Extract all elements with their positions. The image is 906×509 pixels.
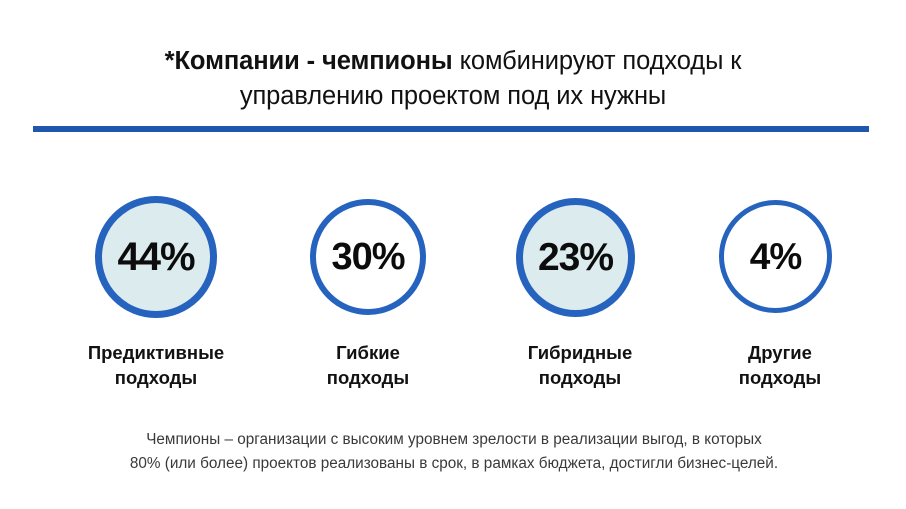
category-label-agile-line1: Гибкие (278, 340, 458, 365)
category-label-agile: Гибкие подходы (278, 340, 458, 390)
title-line-2: управлению проектом под их нужны (60, 79, 846, 114)
footnote-line-2: 80% (или более) проектов реализованы в с… (63, 452, 845, 476)
category-label-agile-line2: подходы (278, 365, 458, 390)
category-label-hybrid: Гибридные подходы (480, 340, 680, 390)
category-label-other-line1: Другие (690, 340, 870, 365)
stat-circle-hybrid: 23% (516, 196, 635, 317)
circle-shape-agile: 30% (310, 199, 426, 315)
category-label-other: Другие подходы (690, 340, 870, 390)
stat-circle-predictive: 44% (95, 196, 217, 318)
title-divider (33, 126, 869, 132)
circle-shape-hybrid: 23% (516, 198, 635, 317)
stat-circle-other: 4% (719, 196, 832, 313)
title-emphasis: *Компании - чемпионы (165, 47, 453, 75)
category-label-predictive: Предиктивные подходы (56, 340, 256, 390)
stat-value-hybrid: 23% (538, 238, 613, 277)
title-remainder: комбинируют подходы к (453, 47, 742, 75)
category-label-hybrid-line1: Гибридные (480, 340, 680, 365)
circle-shape-other: 4% (719, 200, 832, 313)
stat-value-agile: 30% (331, 238, 404, 276)
category-label-predictive-line1: Предиктивные (56, 340, 256, 365)
title-line-1: *Компании - чемпионы комбинируют подходы… (60, 44, 846, 79)
stat-value-predictive: 44% (117, 237, 194, 277)
page-title: *Компании - чемпионы комбинируют подходы… (60, 44, 846, 114)
circle-shape-predictive: 44% (95, 196, 217, 318)
slide-canvas: *Компании - чемпионы комбинируют подходы… (0, 0, 906, 509)
stat-value-other: 4% (750, 238, 801, 275)
footnote-line-1: Чемпионы – организации с высоким уровнем… (63, 428, 845, 452)
category-label-predictive-line2: подходы (56, 365, 256, 390)
category-labels-row: Предиктивные подходы Гибкие подходы Гибр… (0, 340, 906, 406)
stat-circle-agile: 30% (310, 196, 426, 315)
footnote: Чемпионы – организации с высоким уровнем… (63, 428, 845, 476)
category-label-hybrid-line2: подходы (480, 365, 680, 390)
stat-circles-row: 44% 30% 23% 4% (0, 196, 906, 326)
category-label-other-line2: подходы (690, 365, 870, 390)
